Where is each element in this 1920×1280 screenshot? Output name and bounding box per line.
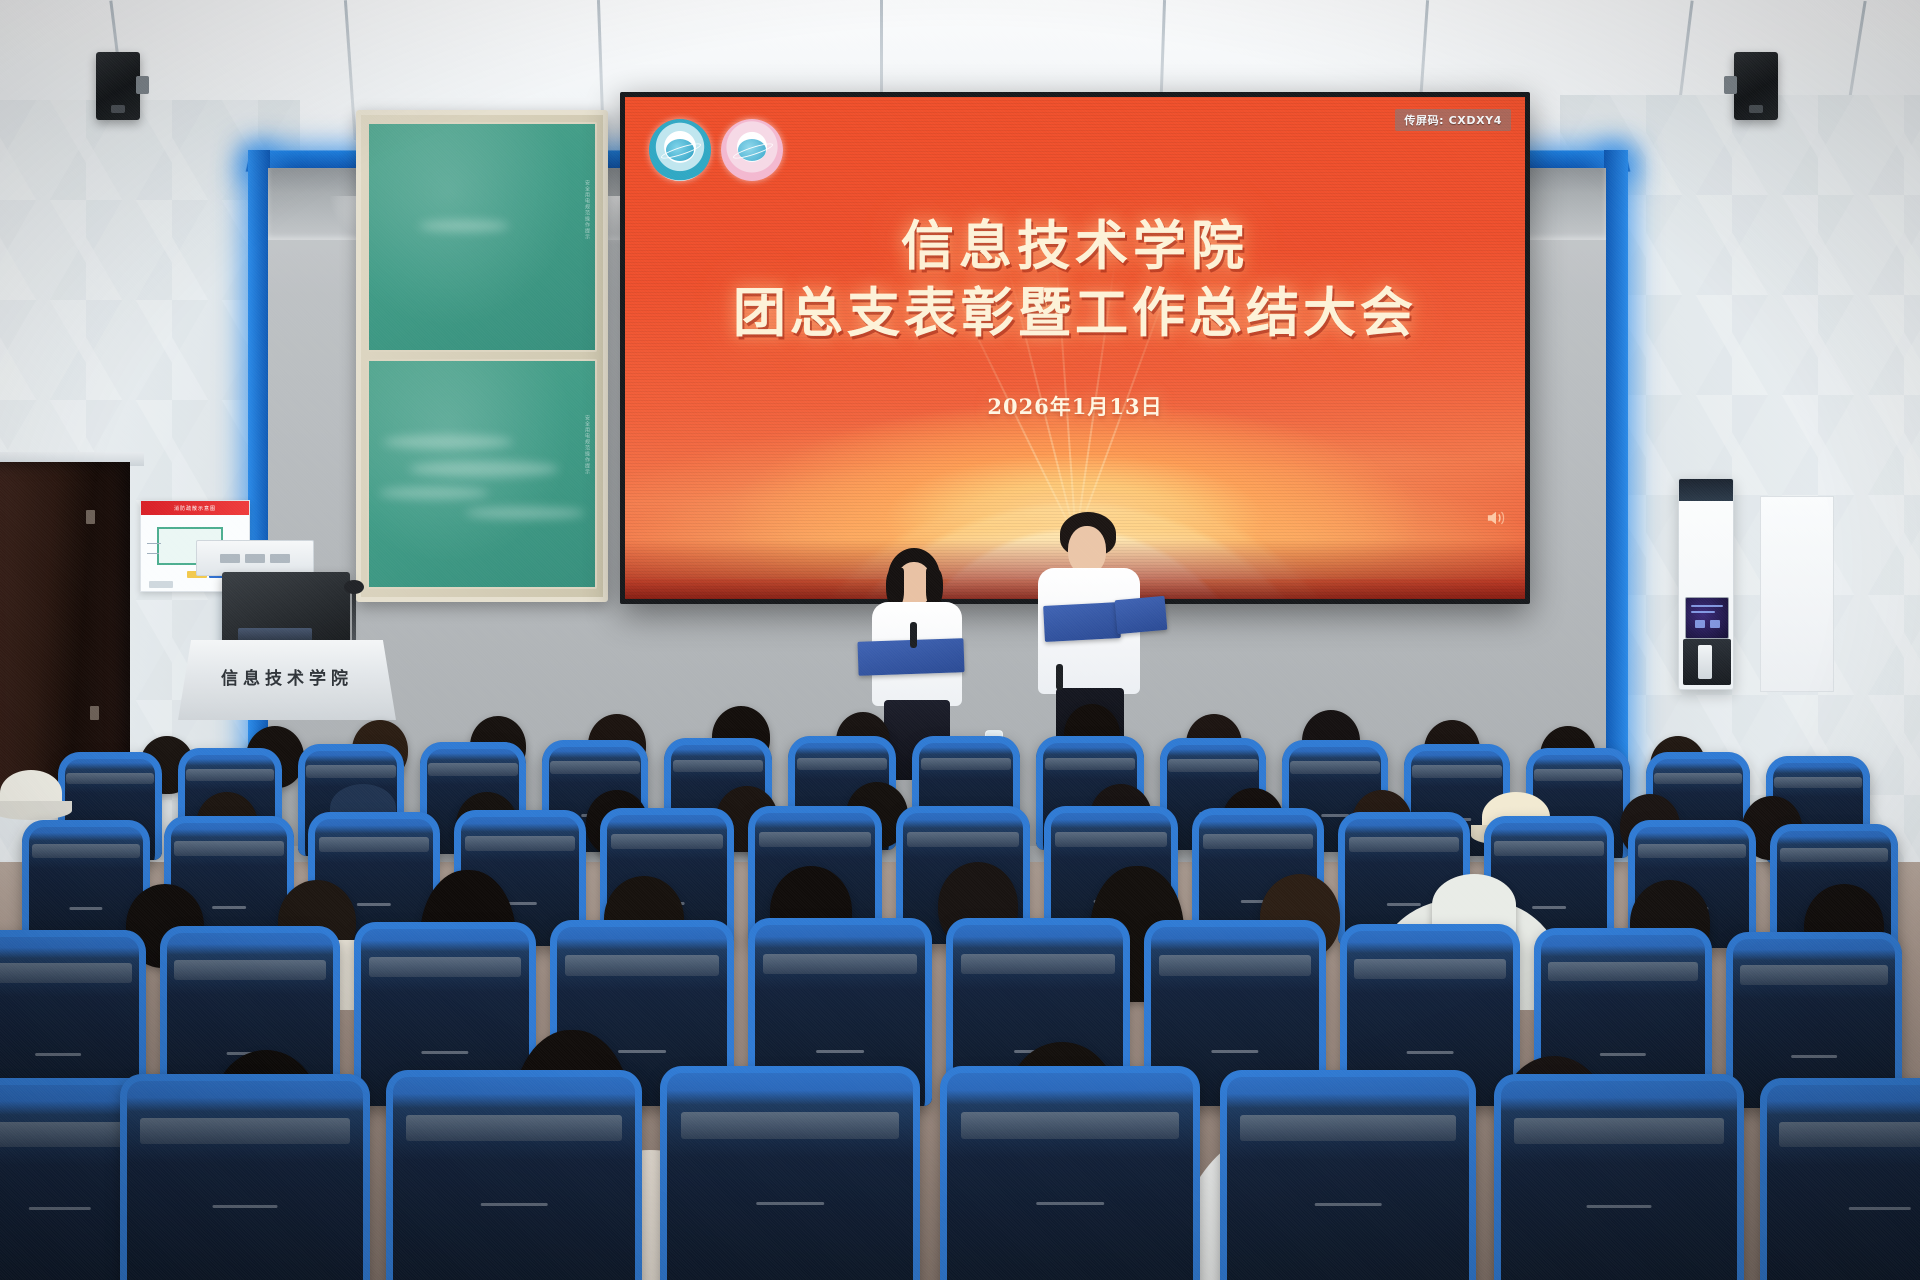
auditorium-seat-foreground (1760, 1078, 1920, 1280)
chalkboard: 安全用电规范操作提示 安全用电规范操作提示 (356, 110, 608, 602)
lectern-label: 信息技术学院 (178, 664, 396, 689)
screen-cast-code-badge: 传屏码: CXDXY4 (1395, 109, 1511, 131)
auditorium-seat-foreground (660, 1066, 920, 1280)
banner-title-line1: 信息技术学院 (653, 215, 1497, 278)
auditorium-seat-foreground (120, 1074, 370, 1280)
chalkboard-rail-text-lower: 安全用电规范操作提示 (584, 415, 591, 475)
auditorium-seat-foreground (1494, 1074, 1744, 1280)
chalkboard-panel-upper: 安全用电规范操作提示 (367, 122, 597, 352)
kiosk-touchscreen[interactable] (1685, 597, 1729, 639)
presenter-folder-second (1115, 596, 1168, 634)
school-emblem-teal-icon (649, 119, 711, 181)
presenter-folder (1043, 602, 1121, 642)
auditorium-photo: 安全用电规范操作提示 安全用电规范操作提示 (0, 0, 1920, 1280)
presenter-head (1068, 526, 1106, 574)
led-cove-strip-right (1604, 150, 1628, 850)
auditorium-seat-foreground (1220, 1070, 1476, 1280)
poster-title: 消防疏散示意图 (174, 505, 216, 512)
wall-water-dispenser[interactable] (1678, 478, 1734, 690)
banner-date: 2026年1月13日 (625, 391, 1525, 421)
wall-speaker-left (96, 52, 140, 120)
banner-title-block: 信息技术学院 团总支表彰暨工作总结大会 (625, 215, 1525, 344)
banner-logos (649, 119, 783, 181)
audience-cap (0, 770, 62, 816)
chalkboard-panel-lower: 安全用电规范操作提示 (367, 359, 597, 589)
presenter-microphone (910, 622, 917, 648)
auditorium-seat-foreground (386, 1070, 642, 1280)
lectern: 信息技术学院 (178, 640, 396, 720)
banner-title-line2: 团总支表彰暨工作总结大会 (653, 282, 1497, 345)
chalkboard-rail-text: 安全用电规范操作提示 (584, 180, 591, 240)
podium-monitor (222, 572, 350, 650)
wall-speaker-right (1734, 52, 1778, 120)
side-door-panel[interactable] (1760, 496, 1834, 692)
volume-icon (1485, 509, 1507, 527)
podium-microphone (352, 590, 356, 646)
auditorium-seat-foreground (940, 1066, 1200, 1280)
wall-control-panel[interactable] (196, 540, 314, 576)
presenter-microphone (1056, 664, 1063, 690)
department-emblem-pink-icon (721, 119, 783, 181)
